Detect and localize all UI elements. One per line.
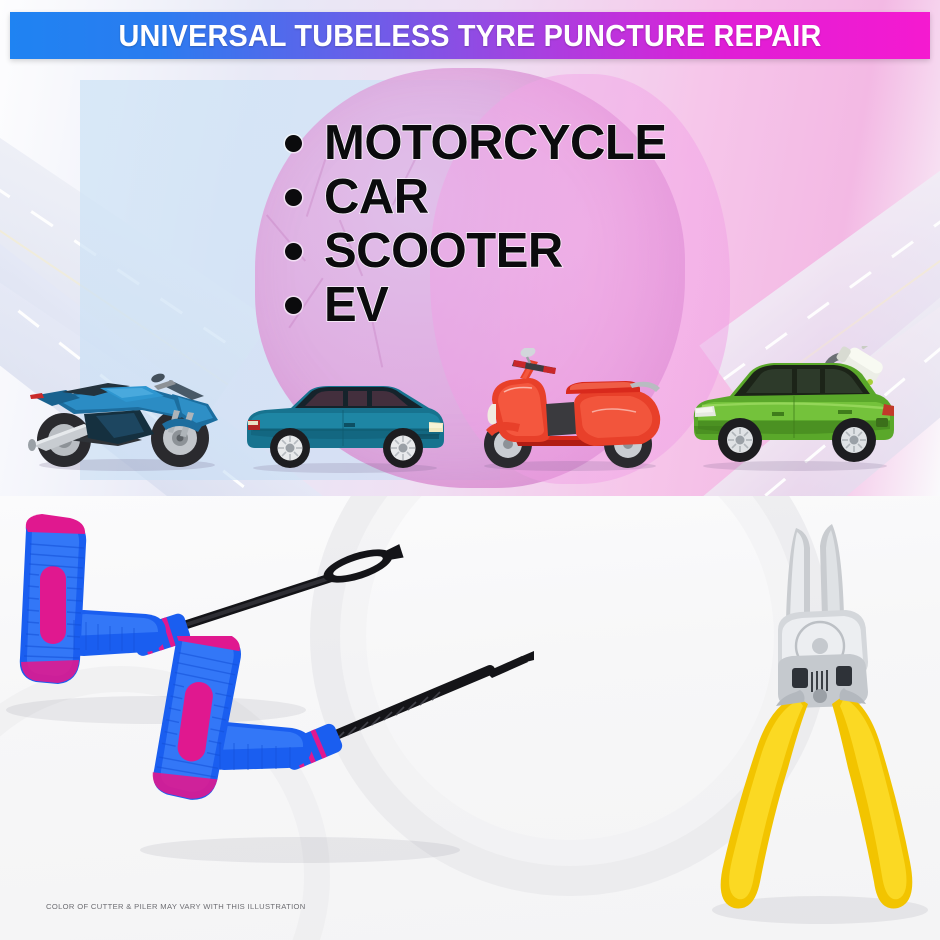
disclaimer-text: COLOR OF CUTTER & PILER MAY VARY WITH TH…	[46, 902, 306, 911]
bullet-label-scooter: SCOOTER	[324, 225, 563, 277]
pliers-tool	[700, 510, 940, 930]
car-illustration	[243, 382, 448, 474]
bullet-dot-icon	[285, 189, 302, 206]
bullet-label-ev: EV	[324, 279, 388, 331]
kit-contents-panel: SDI® No.0104 FOR HOME AND INDUSTRY THOMA…	[0, 496, 940, 940]
bullet-dot-icon	[285, 297, 302, 314]
list-item: MOTORCYCLE	[285, 116, 667, 170]
bullet-dot-icon	[285, 135, 302, 152]
list-item: CAR	[285, 170, 667, 224]
list-item: SCOOTER	[285, 224, 667, 278]
reamer-tool	[110, 636, 590, 866]
product-listing-image: UNIVERSAL TUBELESS TYRE PUNCTURE REPAIR …	[0, 0, 940, 940]
bullet-label-car: CAR	[324, 171, 429, 223]
bullet-label-motorcycle: MOTORCYCLE	[324, 117, 667, 169]
bullet-dot-icon	[285, 243, 302, 260]
ev-car-illustration	[688, 346, 903, 474]
list-item: EV	[285, 278, 667, 332]
motorcycle-illustration	[22, 352, 232, 472]
vehicle-bullet-list: MOTORCYCLE CAR SCOOTER EV	[285, 116, 667, 332]
hero-panel: UNIVERSAL TUBELESS TYRE PUNCTURE REPAIR …	[0, 0, 940, 496]
page-title: UNIVERSAL TUBELESS TYRE PUNCTURE REPAIR	[119, 18, 822, 54]
scooter-illustration	[470, 348, 670, 474]
header-banner: UNIVERSAL TUBELESS TYRE PUNCTURE REPAIR	[10, 12, 930, 59]
